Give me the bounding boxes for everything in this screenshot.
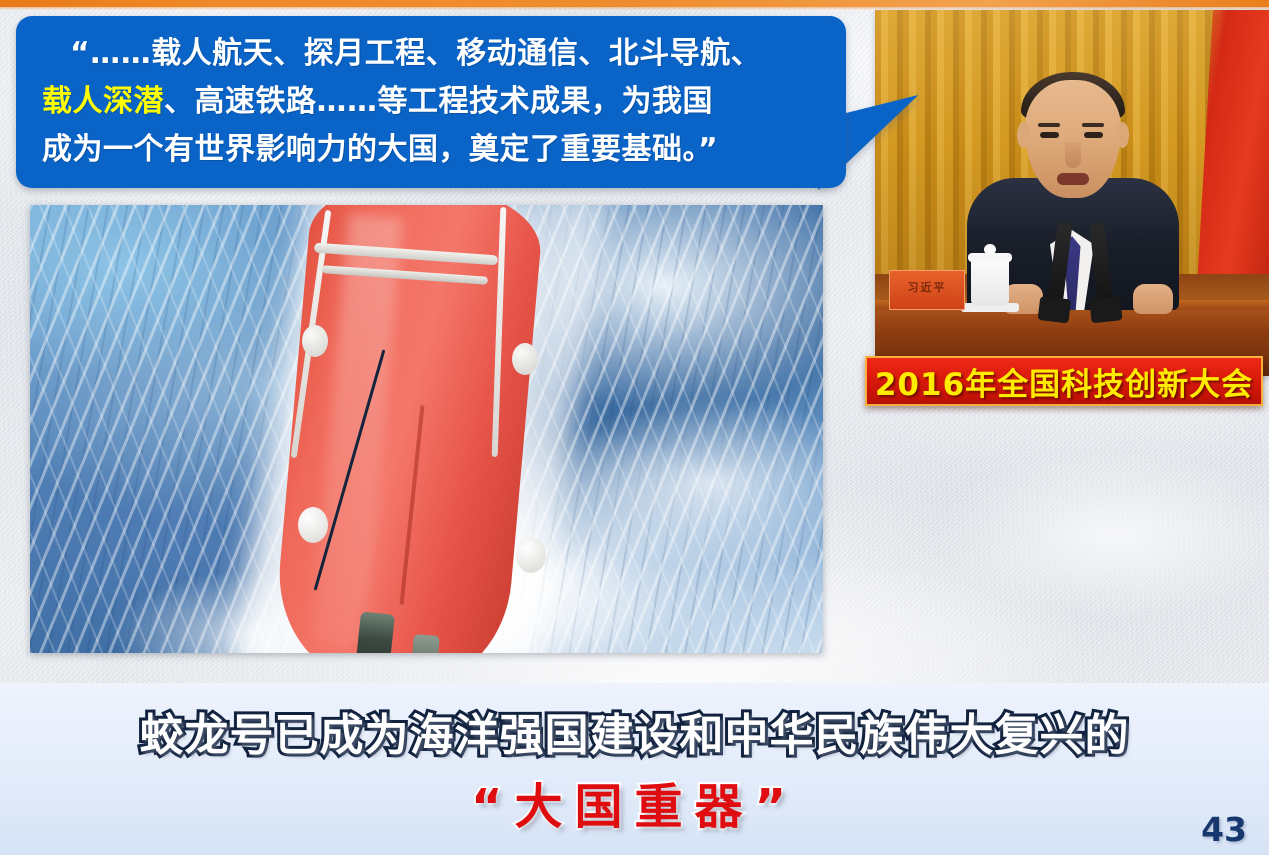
speaker-eye-left [1040,132,1059,138]
speaker-hand-right [1133,284,1173,314]
caption-line-2: “大国重器” [0,767,1269,837]
speaker-mouth [1057,173,1089,185]
quote-line-1: “……载人航天、探月工程、移动通信、北斗导航、 [42,30,828,78]
leader-speech-photo: 习近平 [875,10,1269,376]
hull-fitting-upper-right [512,343,538,375]
speaker-brow-right [1082,123,1104,127]
quote-line-2: 载人深潜、高速铁路……等工程技术成果，为我国 [42,78,828,126]
quote-line-3: 成为一个有世界影响力的大国，奠定了重要基础。” [42,126,828,174]
speaker-brow-left [1038,123,1060,127]
tea-cup-knob [984,244,996,255]
top-orange-rule [0,0,1269,7]
quote-highlight-term: 载人深潜 [42,84,164,119]
event-banner: 2016年全国科技创新大会 [865,356,1263,406]
nameplate-text: 习近平 [890,279,964,295]
presentation-slide: “……载人航天、探月工程、移动通信、北斗导航、 载人深潜、高速铁路……等工程技术… [0,0,1269,855]
hull-fitting-upper-left [302,325,328,357]
caption-line-1: 蛟龙号已成为海洋强国建设和中华民族伟大复兴的 [0,699,1269,763]
desk-nameplate: 习近平 [889,270,965,310]
tea-cup [971,258,1009,306]
event-banner-label: 2016年全国科技创新大会 [875,359,1253,404]
hull-fitting-right [516,537,546,573]
quote-line-2-rest: 、高速铁路……等工程技术成果，为我国 [164,84,713,119]
quote-text: “……载人航天、探月工程、移动通信、北斗导航、 载人深潜、高速铁路……等工程技术… [42,30,828,176]
submersible-photo [30,205,823,653]
caption-band: 蛟龙号已成为海洋强国建设和中华民族伟大复兴的 “大国重器” [0,683,1269,855]
speaker-nose [1065,142,1081,168]
quote-speech-bubble: “……载人航天、探月工程、移动通信、北斗导航、 载人深潜、高速铁路……等工程技术… [16,16,876,201]
speaker-ear-left [1017,122,1030,148]
slide-page-number: 43 [1201,810,1247,849]
hull-fitting-left [298,507,328,543]
speaker-eye-right [1084,132,1103,138]
speaker-ear-right [1116,122,1129,148]
sensor-canister-right [410,634,439,653]
sensor-canister-left [355,611,395,653]
